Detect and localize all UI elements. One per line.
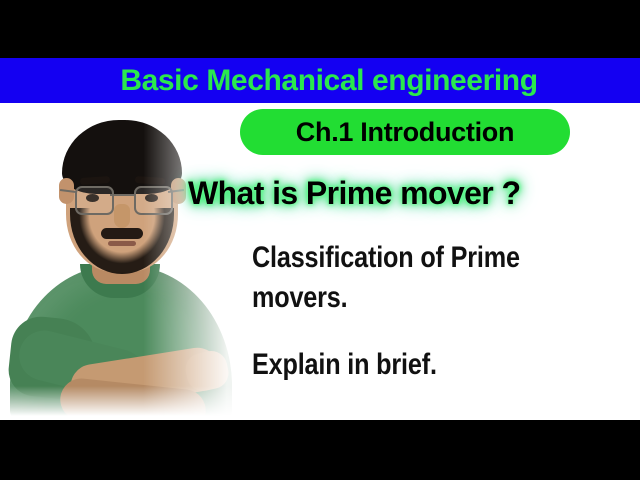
chapter-badge: Ch.1 Introduction: [240, 109, 570, 155]
chapter-label: Ch.1 Introduction: [296, 119, 514, 146]
presenter-mouth: [108, 241, 136, 246]
headline-question: What is Prime mover ?: [188, 177, 520, 209]
presenter-moustache: [101, 228, 143, 239]
slide-canvas: Basic Mechanical engineering: [0, 58, 640, 420]
body-line-2: movers.: [252, 278, 575, 318]
body-line-3: Explain in brief.: [252, 345, 575, 385]
body-line-1: Classification of Prime: [252, 238, 575, 278]
headline-container: What is Prime mover ?: [188, 171, 634, 215]
letterbox-bar-top: [0, 0, 640, 58]
video-thumbnail: Basic Mechanical engineering: [0, 0, 640, 480]
presenter-photo: [4, 104, 236, 420]
course-title: Basic Mechanical engineering: [102, 66, 537, 96]
glasses-lens-left: [75, 186, 114, 215]
presenter-nose: [114, 204, 130, 228]
body-text-block: Classification of Prime movers. Explain …: [252, 238, 636, 385]
glasses-bridge: [110, 194, 134, 196]
course-title-banner: Basic Mechanical engineering: [0, 58, 640, 103]
letterbox-bar-bottom: [0, 420, 640, 480]
